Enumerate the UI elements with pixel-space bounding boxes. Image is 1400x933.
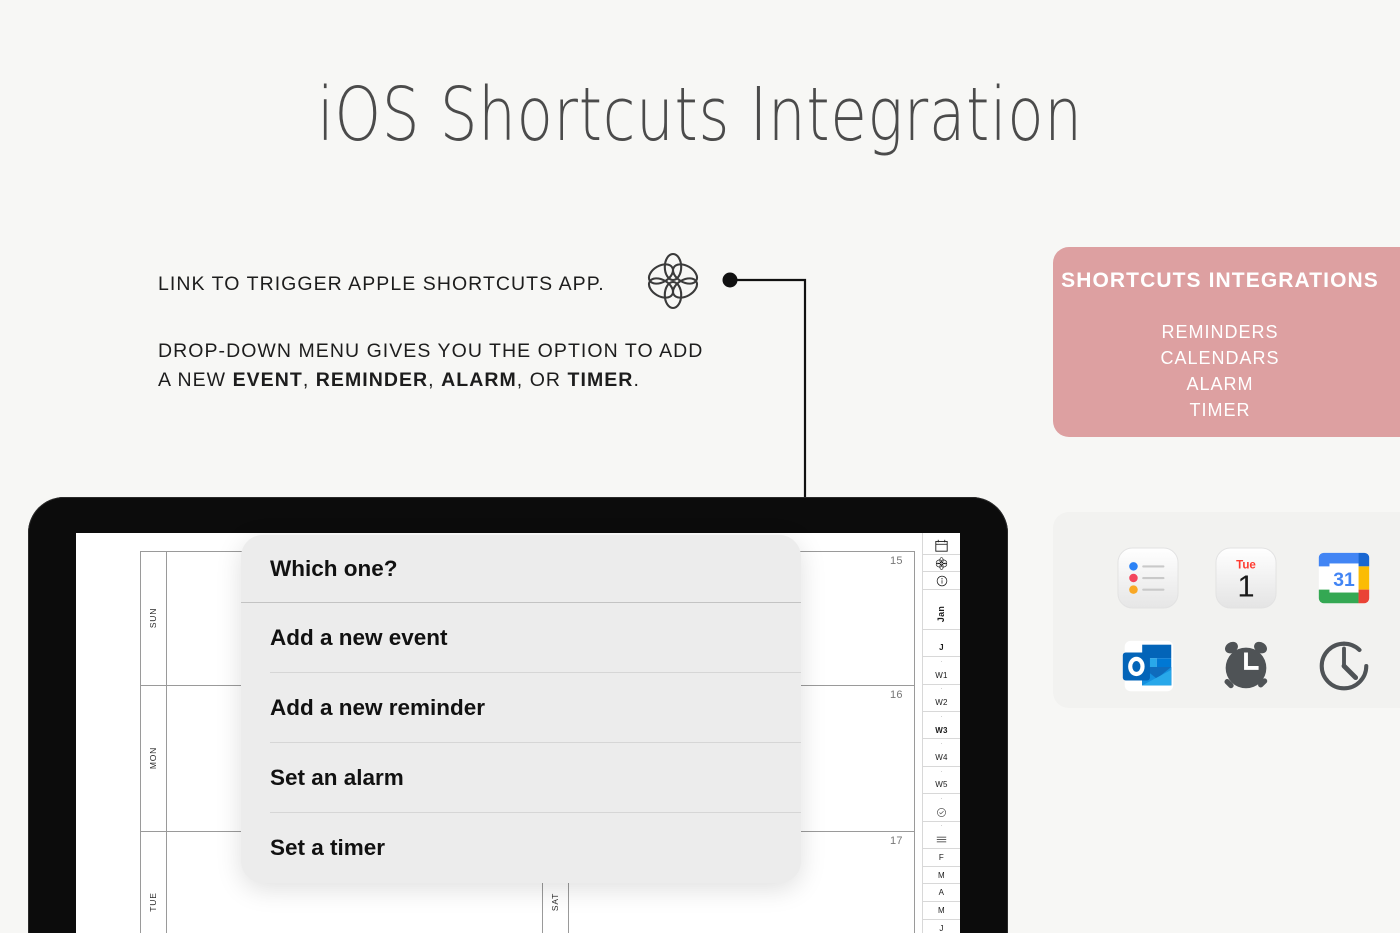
- rail-week-w5[interactable]: W5: [923, 776, 961, 794]
- rail-spacer-1: [923, 590, 961, 600]
- pink-panel-item-calendars: CALENDARS: [1053, 345, 1400, 371]
- day-label-sat-text: SAT: [550, 893, 560, 911]
- rail-week-w3[interactable]: W3: [923, 722, 961, 740]
- pink-panel-item-timer: TIMER: [1053, 397, 1400, 423]
- rail-dot-4: ·: [923, 739, 961, 749]
- apple-calendar-icon[interactable]: Tue 1: [1215, 547, 1277, 609]
- annotation-line-3: A NEW EVENT, REMINDER, ALARM, OR TIMER.: [158, 366, 718, 395]
- rail-month-jan[interactable]: Jan: [923, 600, 961, 630]
- rail-target-icon[interactable]: [923, 804, 961, 822]
- day-label-sun-text: SUN: [148, 608, 158, 628]
- annotation-bold-alarm: ALARM: [441, 369, 517, 391]
- google-calendar-icon[interactable]: 31: [1313, 547, 1375, 609]
- rail-dot-1: ·: [923, 657, 961, 667]
- day-label-mon-text: MON: [148, 747, 158, 769]
- rail-dot-5: ·: [923, 767, 961, 777]
- day-label-tue-text: TUE: [148, 892, 158, 911]
- app-icons-card: Tue 1 31: [1053, 512, 1400, 708]
- rail-week-w2[interactable]: W2: [923, 694, 961, 712]
- apple-calendar-day: 1: [1237, 568, 1254, 603]
- calendar-date-17: 17: [890, 835, 903, 847]
- rail-month-jan-label: Jan: [936, 606, 946, 622]
- shortcuts-dropdown-menu: Which one? Add a new event Add a new rem…: [241, 535, 801, 883]
- google-calendar-day: 31: [1333, 569, 1355, 591]
- rail-calendar-icon[interactable]: [923, 537, 961, 555]
- rail-month-j[interactable]: J: [923, 920, 961, 933]
- menu-item-set-a-timer[interactable]: Set a timer: [270, 813, 801, 883]
- microsoft-outlook-icon[interactable]: [1117, 635, 1179, 697]
- dropdown-header: Which one?: [241, 535, 801, 603]
- rail-month-f[interactable]: F: [923, 849, 961, 867]
- menu-item-set-an-alarm[interactable]: Set an alarm: [270, 743, 801, 813]
- annotation-text-block: LINK TO TRIGGER APPLE SHORTCUTS APP. DRO…: [158, 270, 718, 395]
- rail-spacer-2: [923, 630, 961, 640]
- page-root: iOS Shortcuts Integration LINK TO TRIGGE…: [0, 0, 1400, 933]
- rail-week-w1[interactable]: W1: [923, 667, 961, 685]
- rail-letter-j[interactable]: J: [923, 640, 961, 658]
- rail-flower-icon[interactable]: [923, 555, 961, 573]
- annotation-line-2-text: DROP-DOWN MENU GIVES YOU THE OPTION TO A…: [158, 340, 703, 362]
- alarm-clock-icon[interactable]: [1215, 635, 1277, 697]
- annotation-sep-2: ,: [428, 369, 441, 391]
- pink-panel-item-alarm: ALARM: [1053, 371, 1400, 397]
- flower-icon: [642, 250, 704, 312]
- page-title: iOS Shortcuts Integration: [140, 72, 1260, 158]
- app-icons-grid: Tue 1 31: [1099, 534, 1393, 710]
- rail-month-a[interactable]: A: [923, 884, 961, 902]
- shortcuts-integrations-panel: SHORTCUTS INTEGRATIONS REMINDERS CALENDA…: [1053, 247, 1400, 437]
- annotation-line-1: LINK TO TRIGGER APPLE SHORTCUTS APP.: [158, 270, 718, 299]
- calendar-day-label-mon: MON: [140, 685, 166, 831]
- pink-panel-item-reminders: REMINDERS: [1053, 319, 1400, 345]
- rail-dot-6: ·: [923, 794, 961, 804]
- annotation-bold-reminder: REMINDER: [316, 369, 428, 391]
- annotation-bold-event: EVENT: [233, 369, 303, 391]
- rail-info-icon[interactable]: [923, 572, 961, 590]
- calendar-date-16: 16: [890, 689, 903, 701]
- timer-icon[interactable]: [1313, 635, 1375, 697]
- connector-dot: [723, 273, 738, 288]
- rail-dot-7: ·: [923, 822, 961, 832]
- calendar-date-15: 15: [890, 555, 903, 567]
- annotation-sep-1: ,: [303, 369, 316, 391]
- rail-dot-2: ·: [923, 685, 961, 695]
- annotation-bold-timer: TIMER: [568, 369, 634, 391]
- menu-item-add-new-event[interactable]: Add a new event: [270, 603, 801, 673]
- rail-dot-3: ·: [923, 712, 961, 722]
- annotation-sep-3: , OR: [517, 369, 568, 391]
- calendar-day-label-sun: SUN: [140, 551, 166, 685]
- rail-list-icon[interactable]: [923, 831, 961, 849]
- annotation-sep-4: .: [633, 369, 639, 391]
- apple-reminders-icon[interactable]: [1117, 547, 1179, 609]
- calendar-day-label-tue: TUE: [140, 831, 166, 933]
- annotation-prefix: A NEW: [158, 369, 233, 391]
- planner-side-rail: Jan J · W1 · W2 · W3 · W4 · W5 · ·: [922, 533, 960, 933]
- annotation-line-2: DROP-DOWN MENU GIVES YOU THE OPTION TO A…: [158, 337, 718, 366]
- pink-panel-heading: SHORTCUTS INTEGRATIONS: [1053, 269, 1400, 293]
- rail-month-m[interactable]: M: [923, 867, 961, 885]
- menu-item-add-new-reminder[interactable]: Add a new reminder: [270, 673, 801, 743]
- rail-week-w4[interactable]: W4: [923, 749, 961, 767]
- rail-month-m2[interactable]: M: [923, 902, 961, 920]
